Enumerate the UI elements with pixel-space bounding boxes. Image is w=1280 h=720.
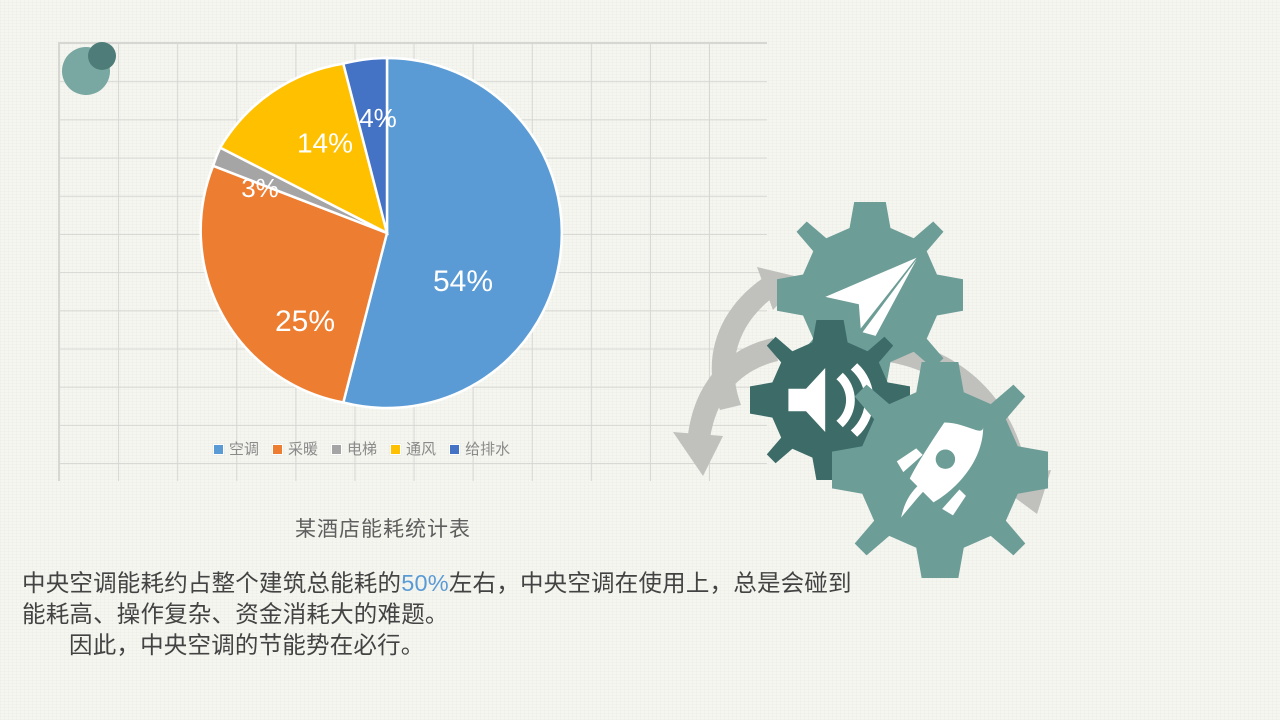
legend-item-3[interactable]: 通风 xyxy=(390,442,436,457)
legend-swatch-icon-1 xyxy=(272,444,283,455)
logo-small-circle xyxy=(88,42,116,70)
legend-swatch-icon-0 xyxy=(213,444,224,455)
decorative-circles-logo xyxy=(62,42,116,96)
body-highlight-value: 50% xyxy=(401,570,449,596)
rocket-gear[interactable] xyxy=(832,362,1048,578)
legend-item-2[interactable]: 电梯 xyxy=(331,442,377,457)
legend-swatch-icon-3 xyxy=(390,444,401,455)
pie-label-0: 54% xyxy=(433,265,493,298)
pie-svg: 54% 25% 3% 14% 4% xyxy=(180,40,600,440)
pie-label-2: 3% xyxy=(241,173,279,203)
legend-label-0: 空调 xyxy=(229,442,259,457)
pie-label-3: 14% xyxy=(297,127,353,158)
pie-label-4: 4% xyxy=(359,103,397,133)
gears-illustration xyxy=(665,170,1280,680)
pie-label-1: 25% xyxy=(275,305,335,338)
chart-caption: 某酒店能耗统计表 xyxy=(0,513,766,543)
legend-label-3: 通风 xyxy=(406,442,436,457)
body-text-part-1: 中央空调能耗约占整个建筑总能耗的 xyxy=(22,570,401,596)
legend-label-2: 电梯 xyxy=(347,442,377,457)
chart-legend: 空调 采暖 电梯 通风 给排水 xyxy=(213,438,510,460)
legend-label-4: 给排水 xyxy=(465,442,510,457)
slide-canvas: 54% 25% 3% 14% 4% 空调 采暖 电梯 通风 给排水 xyxy=(0,0,1280,720)
legend-item-1[interactable]: 采暖 xyxy=(272,442,318,457)
legend-item-0[interactable]: 空调 xyxy=(213,442,259,457)
legend-swatch-icon-2 xyxy=(331,444,342,455)
energy-consumption-pie-chart: 54% 25% 3% 14% 4% xyxy=(180,40,600,440)
legend-swatch-icon-4 xyxy=(449,444,460,455)
legend-item-4[interactable]: 给排水 xyxy=(449,442,510,457)
legend-label-1: 采暖 xyxy=(288,442,318,457)
gears-svg xyxy=(665,170,1280,680)
